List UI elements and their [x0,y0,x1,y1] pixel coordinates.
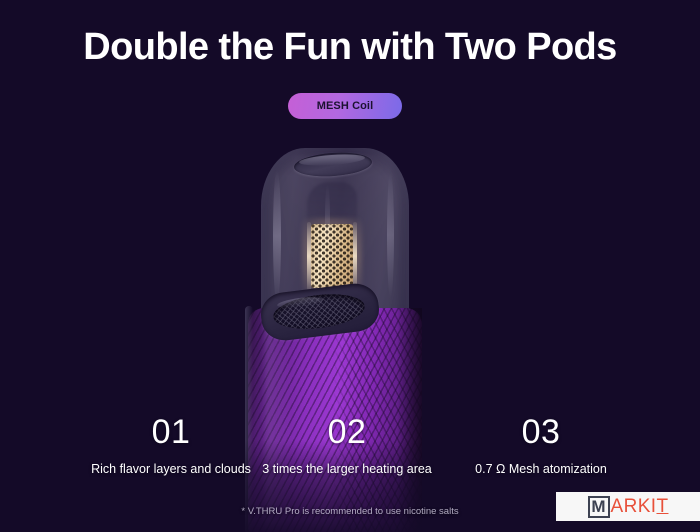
pod-cap-highlight-right [387,172,394,298]
watermark-rest-first: ARKI [611,496,657,517]
watermark-boxed-letter: M [588,496,610,518]
feature-item-03: 03 0.7 Ω Mesh atomization [432,413,650,477]
watermark-rest: ARKIT [611,497,669,516]
page-title: Double the Fun with Two Pods [0,25,700,69]
watermark-logo: M ARKIT [556,492,700,521]
mesh-coil-badge[interactable]: MESH Coil [288,93,402,119]
pod-cap-highlight-left [273,170,281,302]
mesh-coil [311,224,353,288]
mesh-coil-edge-right [353,222,357,290]
promo-banner: Double the Fun with Two Pods MESH Coil 0… [0,0,700,532]
feature-number: 02 [238,413,456,451]
watermark-text: M ARKIT [588,496,669,518]
mesh-coil-badge-label: MESH Coil [317,100,374,112]
feature-item-02: 02 3 times the larger heating area [238,413,456,477]
feature-number: 03 [432,413,650,451]
pod-cap-highlight-center [325,184,330,254]
feature-description: 0.7 Ω Mesh atomization [432,461,650,477]
watermark-rest-last: T [656,496,668,517]
feature-description: 3 times the larger heating area [238,461,456,477]
